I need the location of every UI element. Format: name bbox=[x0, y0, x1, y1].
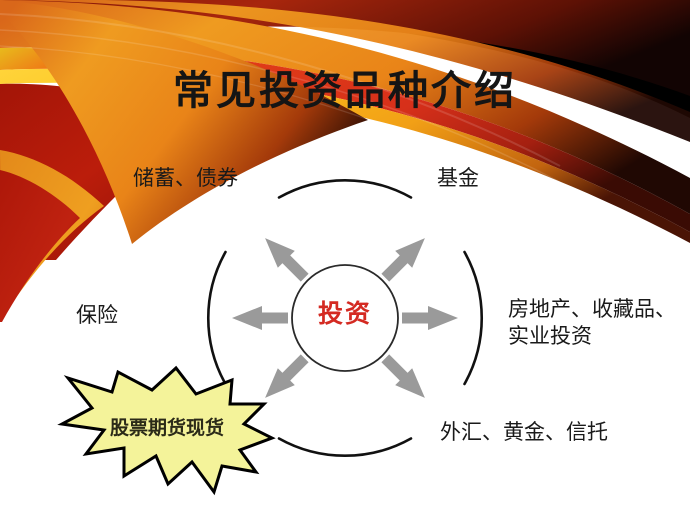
arrow-right bbox=[402, 306, 458, 330]
label-forex-gold-trust: 外汇、黄金、信托 bbox=[440, 419, 608, 446]
label-insurance: 保险 bbox=[76, 302, 118, 329]
starburst-label-stocks-futures-spot: 股票期货现货 bbox=[92, 417, 242, 441]
arrow-left bbox=[232, 306, 288, 330]
label-realestate-line1: 房地产、收藏品、 bbox=[508, 297, 676, 321]
label-realestate-line2: 实业投资 bbox=[508, 324, 592, 348]
arrow-down-right bbox=[377, 230, 434, 287]
arrow-down-left bbox=[257, 230, 314, 287]
label-savings-bonds: 储蓄、债券 bbox=[133, 165, 238, 192]
arrow-up-right bbox=[377, 350, 434, 407]
slide-canvas: 常见投资品种介绍 bbox=[0, 0, 690, 520]
label-fund: 基金 bbox=[437, 165, 479, 192]
arrow-up-left bbox=[257, 350, 314, 407]
center-label-investment: 投资 bbox=[300, 299, 390, 331]
label-realestate-collectibles: 房地产、收藏品、 实业投资 bbox=[508, 296, 684, 350]
